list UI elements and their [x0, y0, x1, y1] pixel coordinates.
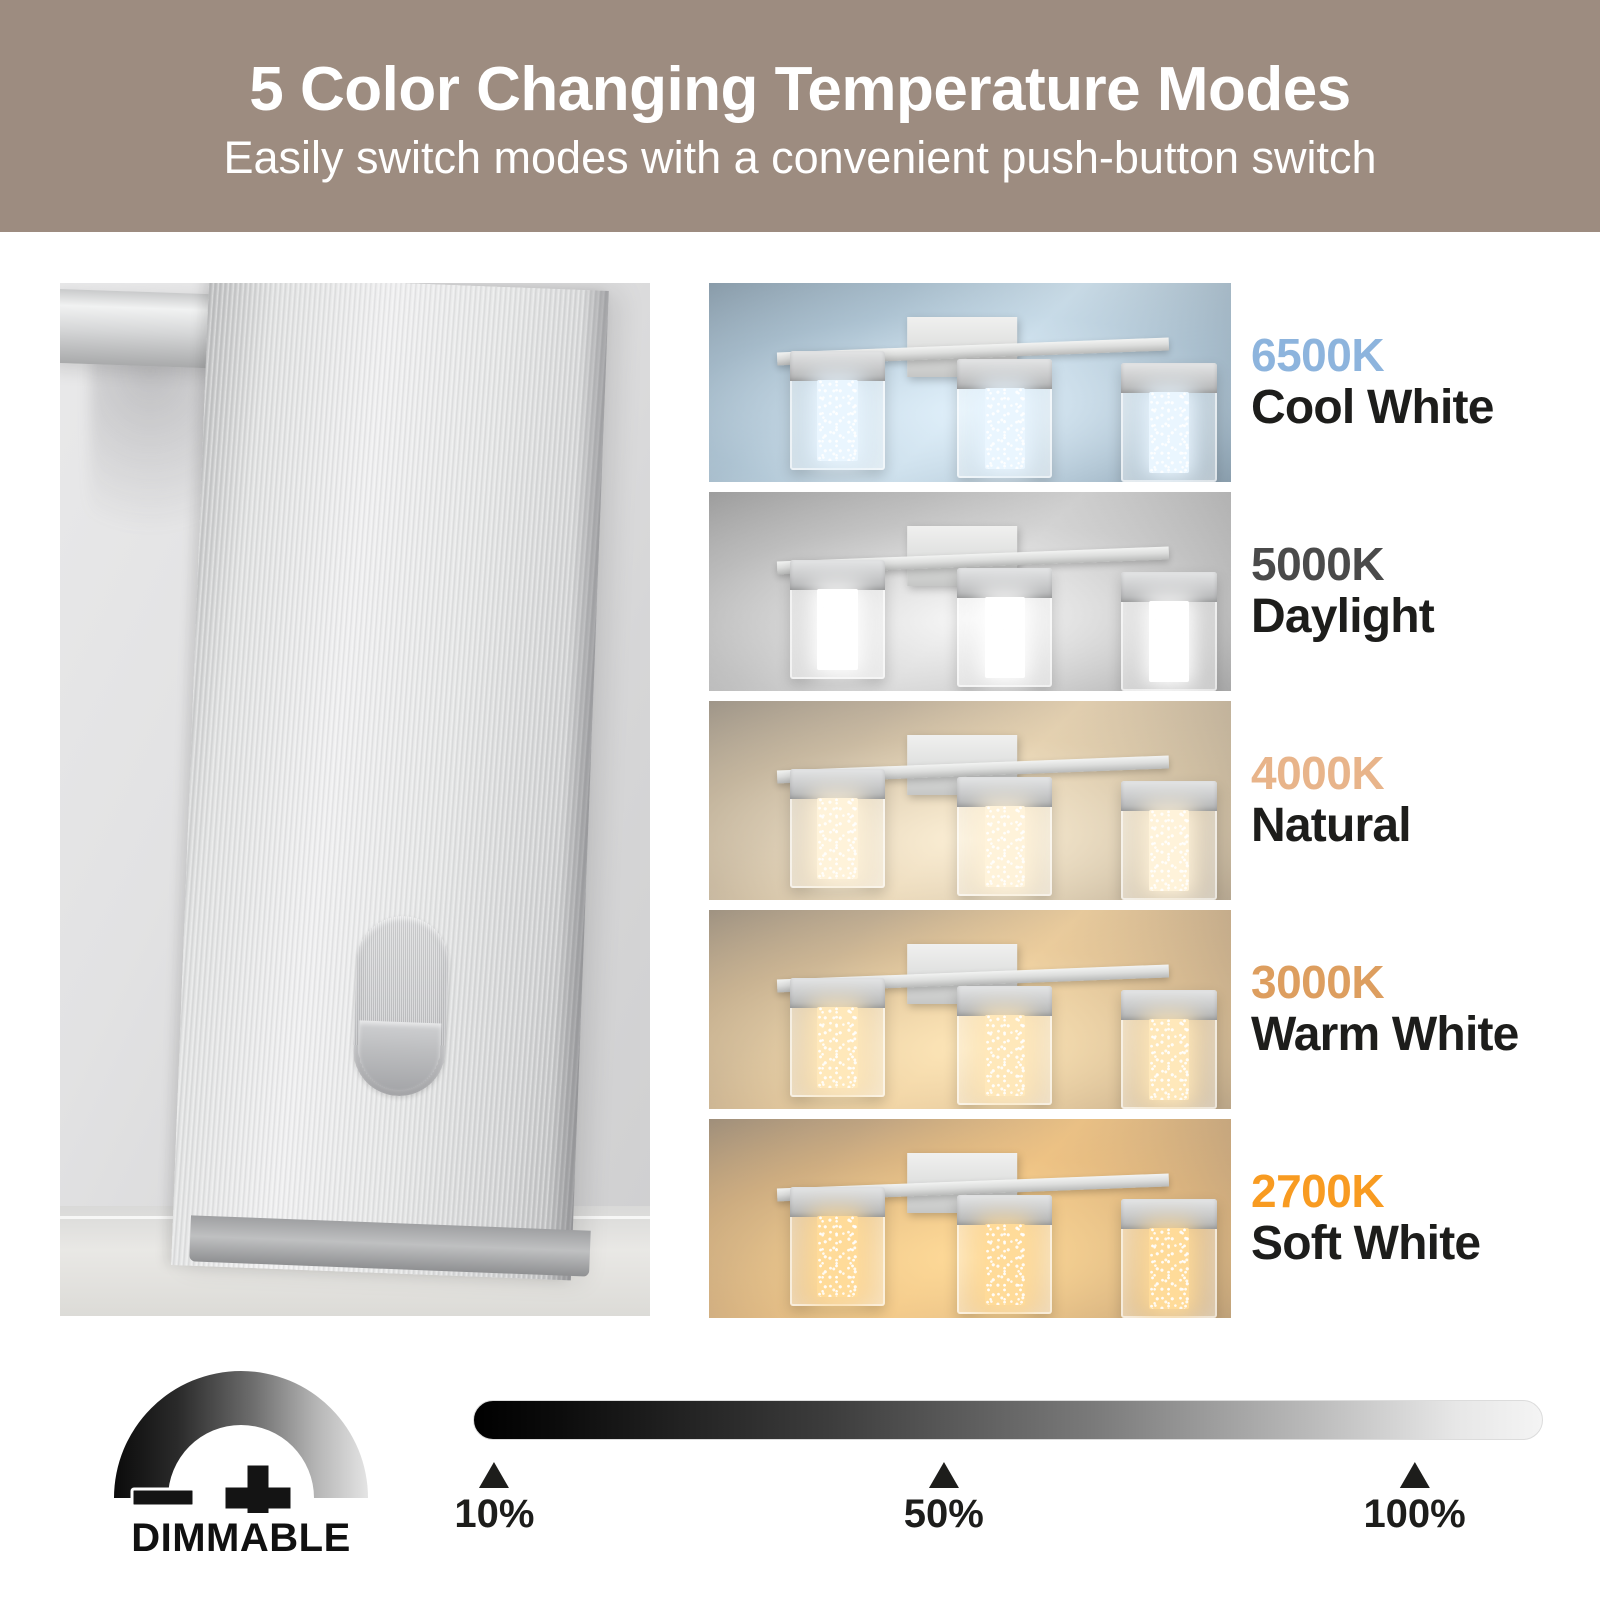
bubble-crystal-rod — [817, 380, 857, 461]
mode-thumbnail-6500k — [709, 283, 1231, 482]
mode-row[interactable]: 6500K Cool White — [709, 283, 1600, 482]
bubble-crystal-rod — [1149, 392, 1189, 473]
page-subtitle: Easily switch modes with a convenient pu… — [223, 135, 1376, 180]
dimmable-badge: DIMMABLE — [96, 1338, 386, 1588]
shade-cap — [1121, 1199, 1216, 1229]
tick-arrow-icon — [1400, 1462, 1430, 1488]
glass-shade — [957, 359, 1052, 478]
glass-shade — [957, 568, 1052, 687]
mode-kelvin-value: 5000K — [1251, 539, 1600, 591]
shade-cap — [957, 777, 1052, 807]
glass-shade — [957, 986, 1052, 1105]
fixture-illustration — [709, 283, 1231, 482]
mode-kelvin-value: 6500K — [1251, 330, 1600, 382]
bubble-crystal-rod — [985, 1224, 1025, 1305]
glass-shade — [1121, 572, 1216, 691]
mode-kelvin-value: 4000K — [1251, 748, 1600, 800]
bubble-crystal-rod — [817, 1216, 857, 1297]
mode-thumbnail-2700k — [709, 1119, 1231, 1318]
mode-text-block: 3000K Warm White — [1231, 910, 1600, 1109]
fixture-illustration — [709, 492, 1231, 691]
fixture-illustration — [709, 701, 1231, 900]
bubble-crystal-rod — [817, 798, 857, 879]
bubble-crystal-rod — [1149, 601, 1189, 682]
tick-arrow-icon — [479, 1462, 509, 1488]
bubble-crystal-rod — [1149, 1019, 1189, 1100]
shade-cap — [790, 1187, 885, 1217]
shade-cap — [957, 986, 1052, 1016]
bubble-crystal-rod — [985, 806, 1025, 887]
mode-row[interactable]: 2700K Soft White — [709, 1119, 1600, 1318]
page-title: 5 Color Changing Temperature Modes — [249, 59, 1350, 121]
dim-tick-10: 10% — [454, 1462, 534, 1537]
glass-shade — [790, 978, 885, 1097]
mode-text-block: 5000K Daylight — [1231, 492, 1600, 691]
bubble-crystal-rod — [985, 597, 1025, 678]
dimming-scale: 10% 50% 100% — [473, 1400, 1543, 1590]
glass-shade — [1121, 781, 1216, 900]
bubble-crystal-rod — [817, 1007, 857, 1088]
bubble-crystal-rod — [985, 388, 1025, 469]
dim-tick-50: 50% — [904, 1462, 984, 1537]
shade-cap — [1121, 990, 1216, 1020]
mode-thumbnail-4000k — [709, 701, 1231, 900]
shade-cap — [790, 560, 885, 590]
mode-text-block: 2700K Soft White — [1231, 1119, 1600, 1318]
mode-thumbnail-3000k — [709, 910, 1231, 1109]
mode-row[interactable]: 3000K Warm White — [709, 910, 1600, 1109]
glass-shade — [790, 351, 885, 470]
dim-tick-label: 10% — [454, 1492, 534, 1537]
minus-icon — [132, 1489, 194, 1506]
tick-arrow-icon — [929, 1462, 959, 1488]
fixture-illustration — [709, 910, 1231, 1109]
mode-name-label: Natural — [1251, 799, 1600, 853]
mode-name-label: Warm White — [1251, 1008, 1600, 1062]
glass-shade — [957, 1195, 1052, 1314]
dimming-gradient-bar[interactable] — [473, 1400, 1543, 1440]
mode-thumbnail-5000k — [709, 492, 1231, 691]
glass-shade — [790, 560, 885, 679]
bubble-crystal-rod — [985, 1015, 1025, 1096]
fixture-illustration — [709, 1119, 1231, 1318]
mode-kelvin-value: 3000K — [1251, 957, 1600, 1009]
bubble-crystal-rod — [1149, 1228, 1189, 1309]
glass-shade — [1121, 363, 1216, 482]
shade-cap — [790, 978, 885, 1008]
dim-tick-label: 50% — [904, 1492, 984, 1537]
glass-shade — [1121, 990, 1216, 1109]
product-closeup-photo — [60, 283, 650, 1316]
shade-cap — [957, 1195, 1052, 1225]
glass-shade — [957, 777, 1052, 896]
dimmer-symbols — [96, 1338, 386, 1513]
mode-text-block: 6500K Cool White — [1231, 283, 1600, 482]
glass-shade — [1121, 1199, 1216, 1318]
shade-cap — [1121, 572, 1216, 602]
bubble-crystal-rod — [817, 589, 857, 670]
glass-shade — [790, 769, 885, 888]
brushed-nickel-backplate — [171, 283, 609, 1280]
shade-cap — [790, 769, 885, 799]
mode-name-label: Soft White — [1251, 1217, 1600, 1271]
shade-cap — [790, 351, 885, 381]
mode-text-block: 4000K Natural — [1231, 701, 1600, 900]
push-button-switch[interactable] — [352, 914, 451, 1097]
mode-row[interactable]: 5000K Daylight — [709, 492, 1600, 691]
dim-tick-label: 100% — [1363, 1492, 1465, 1537]
dimmable-label: DIMMABLE — [96, 1516, 386, 1561]
shade-cap — [1121, 363, 1216, 393]
mode-kelvin-value: 2700K — [1251, 1166, 1600, 1218]
glass-shade — [790, 1187, 885, 1306]
shade-cap — [1121, 781, 1216, 811]
mode-name-label: Daylight — [1251, 590, 1600, 644]
mode-row[interactable]: 4000K Natural — [709, 701, 1600, 900]
mode-name-label: Cool White — [1251, 381, 1600, 435]
shade-cap — [957, 568, 1052, 598]
plus-icon — [224, 1464, 292, 1513]
color-temperature-mode-list: 6500K Cool White — [709, 283, 1600, 1316]
switch-button-cap — [357, 1020, 442, 1091]
shade-cap — [957, 359, 1052, 389]
dim-tick-100: 100% — [1363, 1462, 1465, 1537]
bubble-crystal-rod — [1149, 810, 1189, 891]
header-banner: 5 Color Changing Temperature Modes Easil… — [0, 0, 1600, 232]
